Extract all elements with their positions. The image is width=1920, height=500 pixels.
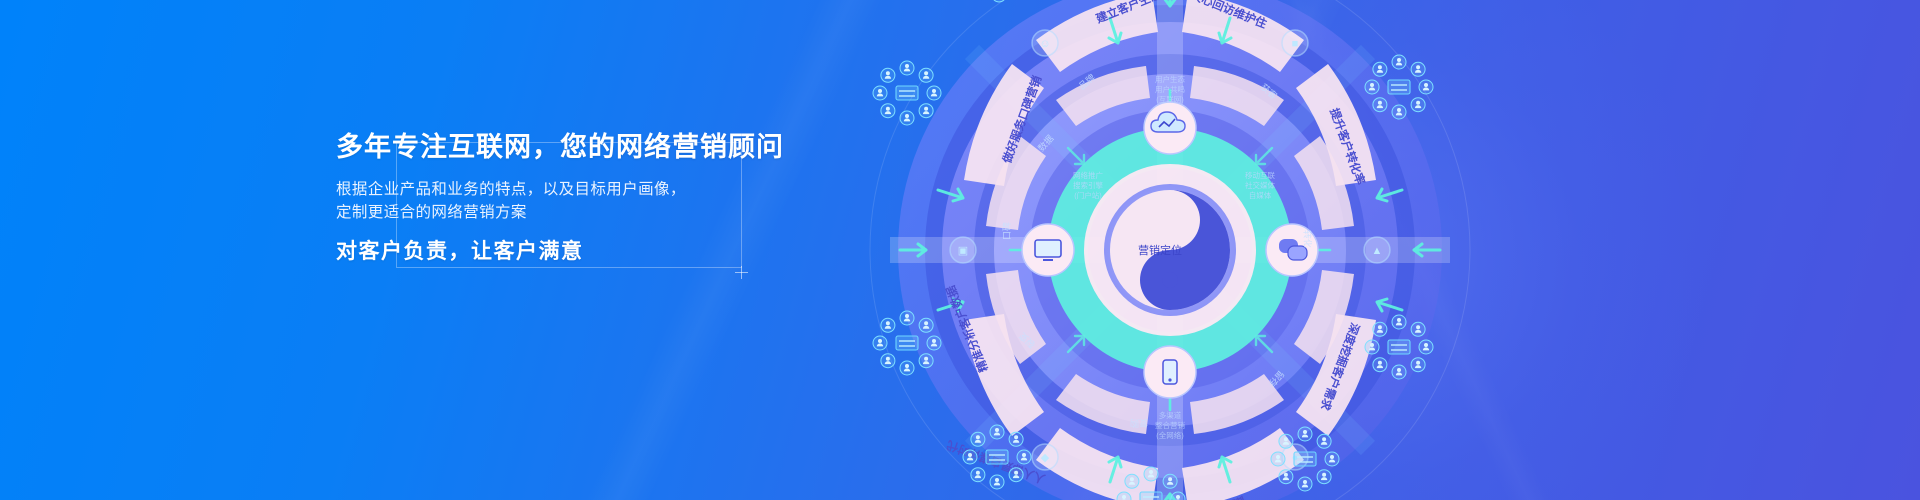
user-group-node-icon — [1392, 105, 1406, 119]
user-group-node-icon — [990, 425, 1004, 439]
user-group-node-icon — [1279, 434, 1293, 448]
user-group-node-icon — [1171, 492, 1185, 500]
user-group-node-icon — [971, 432, 985, 446]
user-group-node-icon — [1117, 492, 1131, 500]
marketing-wheel-diagram: ☺ ■ ▲ ● ◆ ▣ — [860, 0, 1480, 500]
user-group-node-icon — [1373, 98, 1387, 112]
svg-text:多渠道: 多渠道 — [1159, 410, 1182, 420]
headline-group: 多年专注互联网，您的网络营销顾问 根据企业产品和业务的特点，以及目标用户画像， … — [336, 130, 766, 265]
subtitle: 根据企业产品和业务的特点，以及目标用户画像， 定制更适合的网络营销方案 — [336, 178, 766, 224]
user-group-node-icon — [1392, 315, 1406, 329]
user-group-node-icon — [1373, 322, 1387, 336]
user-group-node-icon — [1017, 450, 1031, 464]
user-group-node-icon — [992, 0, 1006, 2]
ring-label-4: 复购 — [1130, 418, 1148, 429]
user-group-node-icon — [1411, 358, 1425, 372]
user-group-node-icon — [1317, 434, 1331, 448]
satellite-node-4 — [1360, 312, 1438, 382]
user-group-node-icon — [1009, 468, 1023, 482]
user-group-node-icon — [1411, 98, 1425, 112]
subtitle-line-2: 定制更适合的网络营销方案 — [336, 201, 766, 224]
user-group-node-icon — [1411, 62, 1425, 76]
svg-text:自媒体: 自媒体 — [1249, 190, 1272, 200]
user-group-node-icon — [881, 68, 895, 82]
user-group-node-icon — [919, 104, 933, 118]
subtitle-line-1: 根据企业产品和业务的特点，以及目标用户画像， — [336, 178, 766, 201]
satellite-node-9 — [868, 308, 946, 378]
user-group-node-icon — [927, 336, 941, 350]
svg-text:☺: ☺ — [1039, 38, 1050, 50]
ring-label-2: 转化 — [1302, 230, 1314, 248]
satellite-node-2 — [1272, 0, 1350, 2]
user-group-node-icon — [900, 311, 914, 325]
svg-text:(互联网): (互联网) — [1156, 95, 1184, 104]
user-group-node-icon — [873, 336, 887, 350]
user-group-node-icon — [1411, 322, 1425, 336]
user-group-node-icon — [1392, 365, 1406, 379]
user-group-node-icon — [900, 111, 914, 125]
user-group-node-icon — [1317, 470, 1331, 484]
ring-label-6: 口碑 — [1001, 222, 1012, 240]
user-group-node-icon — [971, 468, 985, 482]
user-group-node-icon — [927, 86, 941, 100]
user-group-node-icon — [1279, 470, 1293, 484]
user-group-node-icon — [990, 475, 1004, 489]
marketing-banner: ☺ ■ ▲ ● ◆ ▣ — [0, 0, 1920, 500]
user-group-node-icon — [1373, 358, 1387, 372]
satellite-node-0 — [960, 0, 1038, 5]
svg-text:◆: ◆ — [1041, 452, 1050, 464]
svg-text:(全网络): (全网络) — [1156, 430, 1184, 440]
user-group-node-icon — [1392, 55, 1406, 69]
svg-text:用户共鸣: 用户共鸣 — [1155, 84, 1185, 94]
user-group-node-icon — [900, 61, 914, 75]
satellite-node-6 — [1112, 464, 1190, 500]
slogan: 对客户负责，让客户满意 — [336, 239, 766, 265]
core-label: 营销定位 — [1138, 243, 1182, 257]
satellite-node-3 — [1360, 52, 1438, 122]
user-group-node-icon — [1298, 477, 1312, 491]
user-group-node-icon — [873, 86, 887, 100]
user-group-node-icon — [919, 354, 933, 368]
user-group-node-icon — [1271, 452, 1285, 466]
svg-text:整合营销: 整合营销 — [1155, 420, 1185, 430]
user-group-node-icon — [1163, 474, 1177, 488]
user-group-node-icon — [881, 354, 895, 368]
svg-text:移动互联: 移动互联 — [1245, 170, 1275, 180]
svg-text:搜索引擎: 搜索引擎 — [1073, 180, 1103, 190]
user-group-node-icon — [1125, 474, 1139, 488]
svg-text:用户生态: 用户生态 — [1155, 74, 1185, 84]
satellite-node-8 — [868, 58, 946, 128]
user-group-node-icon — [881, 104, 895, 118]
user-group-node-icon — [1365, 80, 1379, 94]
user-group-node-icon — [1325, 452, 1339, 466]
satellite-node-7 — [958, 422, 1036, 492]
user-group-node-icon — [1144, 467, 1158, 481]
user-group-node-icon — [1419, 80, 1433, 94]
user-group-node-icon — [900, 361, 914, 375]
page-title: 多年专注互联网，您的网络营销顾问 — [336, 130, 766, 164]
user-group-node-icon — [1419, 340, 1433, 354]
user-group-node-icon — [919, 318, 933, 332]
svg-text:社交媒体: 社交媒体 — [1245, 180, 1275, 190]
user-group-node-icon — [1009, 432, 1023, 446]
user-group-node-icon — [1373, 62, 1387, 76]
user-group-node-icon — [919, 68, 933, 82]
svg-text:■: ■ — [1292, 38, 1299, 50]
user-group-node-icon — [1298, 427, 1312, 441]
user-group-node-icon — [1365, 340, 1379, 354]
user-group-node-icon — [881, 318, 895, 332]
user-group-node-icon — [963, 450, 977, 464]
svg-text:▲: ▲ — [1372, 245, 1383, 257]
svg-text:网络推广: 网络推广 — [1073, 170, 1103, 180]
svg-text:(门户站): (门户站) — [1074, 190, 1102, 200]
satellite-node-5 — [1266, 424, 1344, 494]
svg-text:▣: ▣ — [958, 245, 968, 257]
